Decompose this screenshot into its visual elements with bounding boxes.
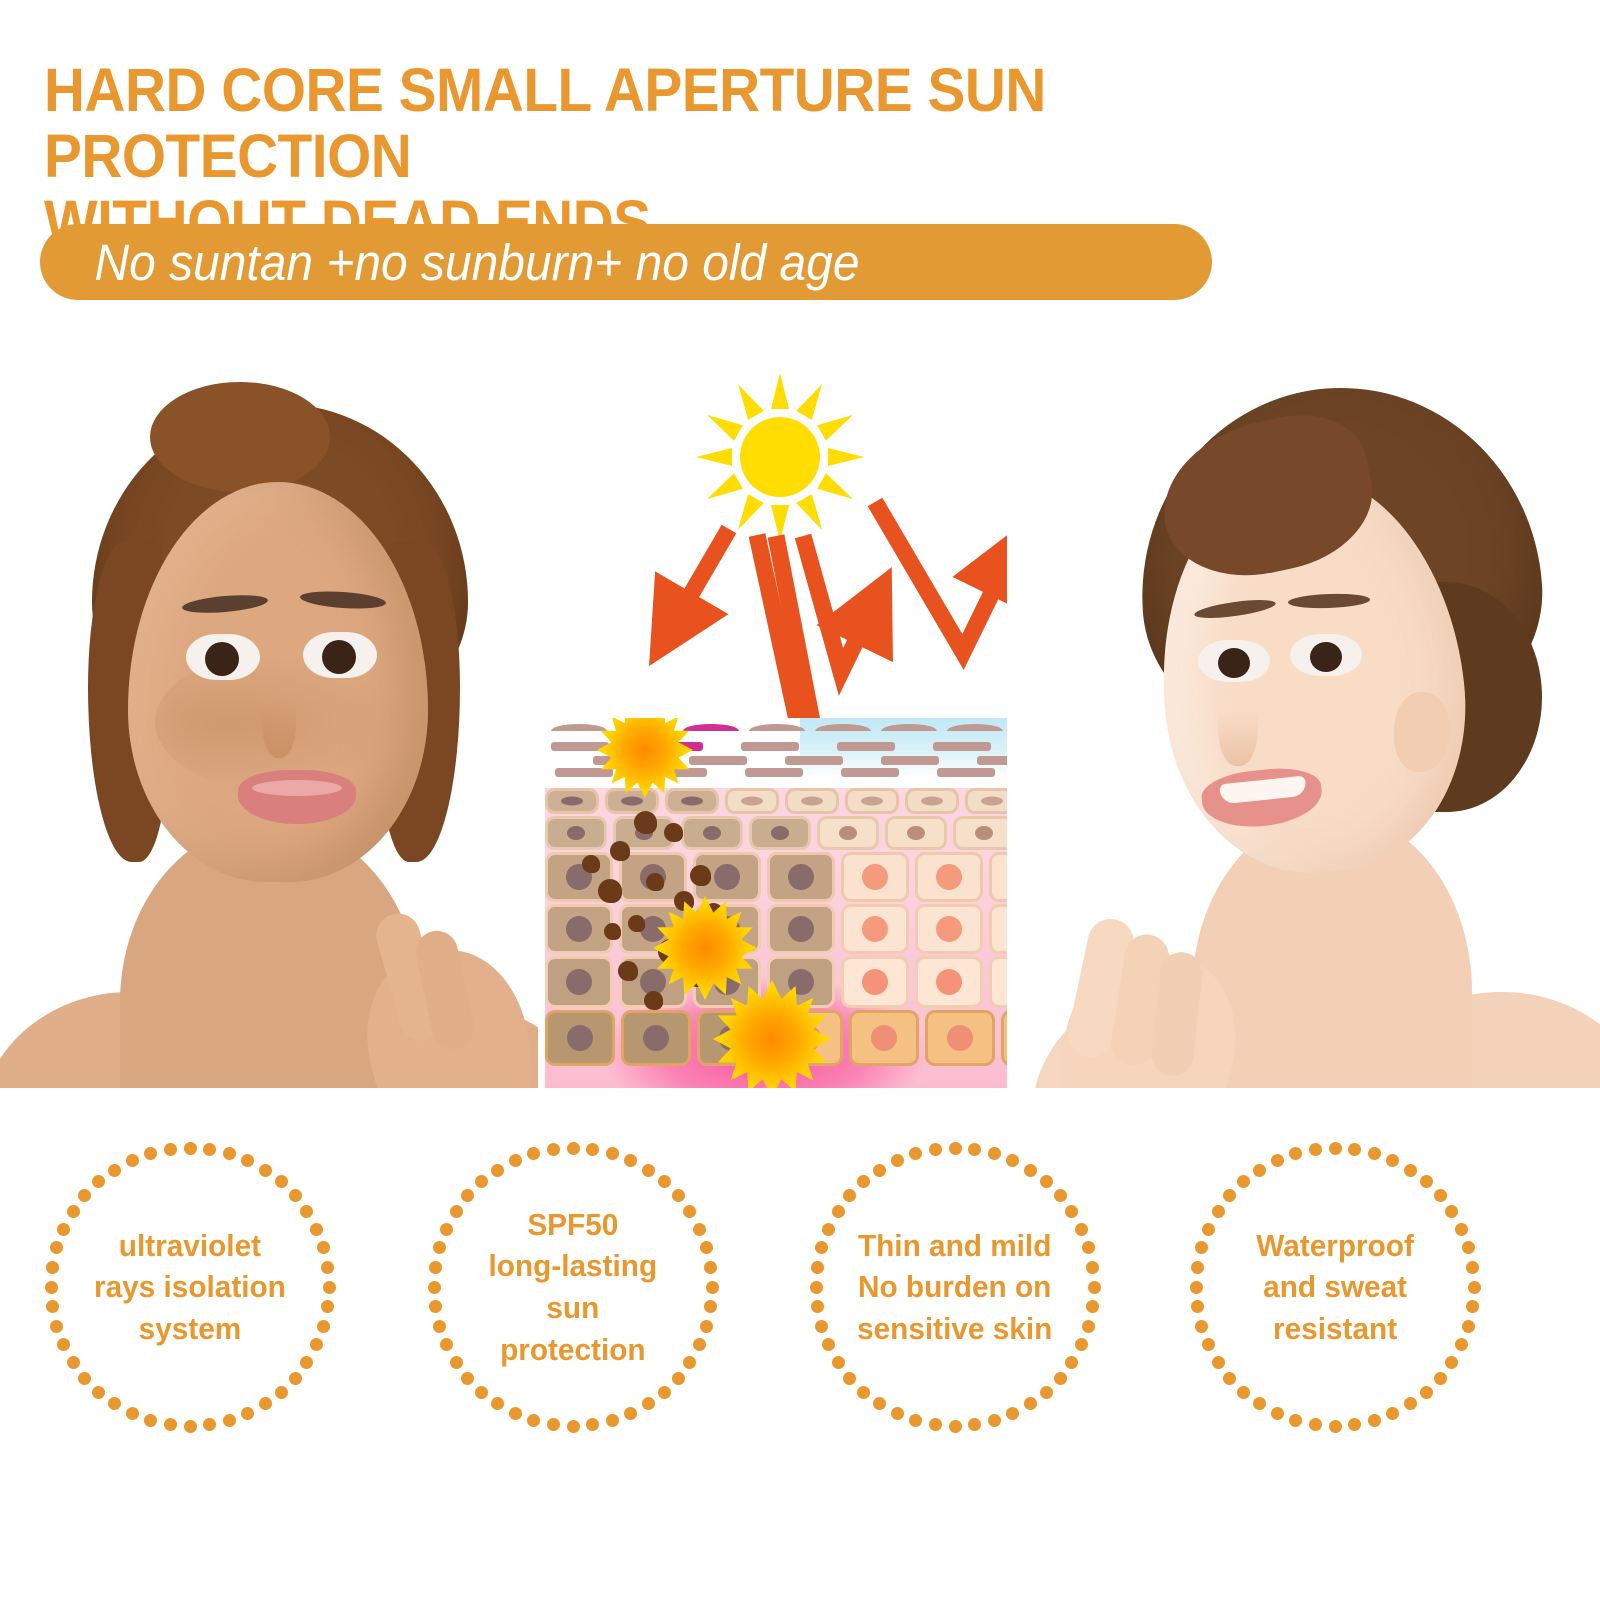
feature-circle-ultraviolet-rays-isolation-system[interactable]: ultraviolet rays isolation system [44,1141,336,1433]
feature-list: ultraviolet rays isolation systemSPF50 l… [0,1115,1600,1475]
eye [322,640,356,674]
skin-cross-section [545,718,1007,1088]
subtitle-text: No suntan +no sunburn+ no old age [40,233,860,292]
feature-circle-waterproof-and-sweat-resistant[interactable]: Waterproof and sweat resistant [1189,1141,1481,1433]
subtitle-banner: No suntan +no sunburn+ no old age [40,224,1212,300]
reflected-ray-arrow [803,502,1007,672]
uv-skin-penetration-diagram [545,352,1007,1088]
feature-circle-thin-and-mild-no-burden[interactable]: Thin and mild No burden on sensitive ski… [809,1141,1101,1433]
feature-label: Waterproof and sweat resistant [1256,1225,1414,1350]
feature-label: ultraviolet rays isolation system [94,1225,286,1350]
feature-label: SPF50 long-lasting sun protection [489,1204,658,1370]
feature-label: Thin and mild No burden on sensitive ski… [857,1225,1052,1350]
after-photo-protected-skin [1022,352,1600,1088]
eye [205,642,239,676]
eye [1310,642,1342,672]
feature-circle-spf50-long-lasting-sun-protection[interactable]: SPF50 long-lasting sun protection [427,1141,719,1433]
eye [1218,648,1250,678]
comparison-band [0,352,1600,1088]
before-photo-sun-damaged-skin [0,352,538,1088]
